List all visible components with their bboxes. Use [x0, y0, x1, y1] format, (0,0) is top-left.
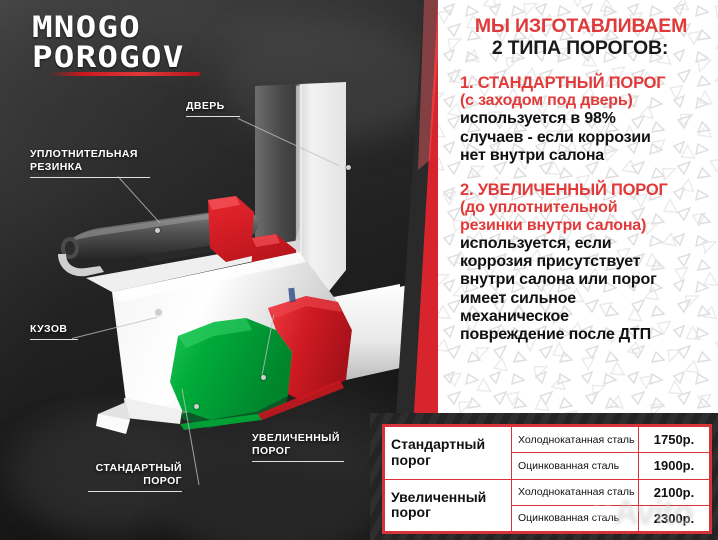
price-value: 1750р. [639, 427, 710, 453]
price-table: Стандартный порог Холоднокатанная сталь … [382, 424, 712, 534]
info-block-enlarged-line2: коррозия присутствует [460, 253, 706, 271]
info-block-standard-subtitle: (с заходом под дверь) [460, 92, 706, 110]
callout-enlarged-sill-line2: ПОРОГ [252, 445, 291, 457]
price-material: Оцинкованная сталь [512, 505, 639, 531]
callout-door: ДВЕРЬ [186, 100, 240, 117]
price-value: 2300р. [639, 505, 710, 531]
callout-enlarged-sill: УВЕЛИЧЕННЫЙ ПОРОГ [252, 432, 344, 462]
callout-body-label: КУЗОВ [30, 323, 67, 335]
info-block-enlarged-line6: повреждение после ДТП [460, 326, 706, 344]
info-block-enlarged-line4: имеет сильное [460, 290, 706, 308]
price-group-standard-label: Стандартный порог [385, 427, 512, 480]
callout-standard-sill: СТАНДАРТНЫЙ ПОРОГ [88, 462, 182, 492]
leader-dot-door [346, 165, 351, 170]
info-block-standard-title: 1. СТАНДАРТНЫЙ ПОРОГ [460, 74, 706, 92]
panel-headline-black: 2 ТИПА ПОРОГОВ: [460, 38, 706, 59]
callout-door-label: ДВЕРЬ [186, 100, 225, 112]
info-block-enlarged-title: 2. УВЕЛИЧЕННЫЙ ПОРОГ [460, 181, 706, 199]
info-block-enlarged-line3: внутри салона или порог [460, 271, 706, 289]
callout-sealing-rubber-line2: РЕЗИНКА [30, 161, 83, 173]
watermark-dot-right [601, 505, 614, 518]
leader-dot-standard-sill [194, 404, 199, 409]
brand-logo-line1: MNOGO [32, 14, 256, 42]
info-block-standard-line2: случаев - если коррозии [460, 129, 706, 147]
table-row: Увеличенный порог Холоднокатанная сталь … [385, 479, 710, 505]
callout-underline [30, 177, 150, 178]
callout-underline [186, 116, 240, 117]
callout-underline [30, 339, 78, 340]
info-block-standard: 1. СТАНДАРТНЫЙ ПОРОГ (с заходом под двер… [460, 74, 706, 165]
info-block-standard-line3: нет внутри салона [460, 147, 706, 165]
table-row: Стандартный порог Холоднокатанная сталь … [385, 427, 710, 453]
price-value: 2100р. [639, 479, 710, 505]
info-block-standard-line1: используется в 98% [460, 110, 706, 128]
leader-dot-sealing-rubber [155, 228, 160, 233]
info-block-enlarged-line5: механическое [460, 308, 706, 326]
info-block-enlarged-line1: используется, если [460, 235, 706, 253]
price-material: Холоднокатанная сталь [512, 427, 639, 453]
info-block-enlarged-subtitle-line2: резинки внутри салона) [460, 217, 706, 235]
brand-logo-streak [47, 72, 201, 76]
price-material: Холоднокатанная сталь [512, 479, 639, 505]
callout-sealing-rubber: УПЛОТНИТЕЛЬНАЯ РЕЗИНКА [30, 148, 150, 178]
info-block-enlarged-subtitle-line1: (до уплотнительной [460, 199, 706, 217]
callout-enlarged-sill-line1: УВЕЛИЧЕННЫЙ [252, 432, 340, 444]
callout-underline [252, 461, 344, 462]
callout-standard-sill-line2: ПОРОГ [143, 475, 182, 487]
callout-sealing-rubber-line1: УПЛОТНИТЕЛЬНАЯ [30, 148, 138, 160]
price-material: Оцинкованная сталь [512, 453, 639, 479]
callout-standard-sill-line1: СТАНДАРТНЫЙ [96, 462, 182, 474]
price-group-enlarged-label: Увеличенный порог [385, 479, 512, 532]
price-value: 1900р. [639, 453, 710, 479]
info-block-enlarged: 2. УВЕЛИЧЕННЫЙ ПОРОГ (до уплотнительной … [460, 181, 706, 344]
brand-logo: MNOGO POROGOV [32, 14, 222, 76]
leader-dot-enlarged-sill [261, 375, 266, 380]
advertisement-image: ДВЕРЬ УПЛОТНИТЕЛЬНАЯ РЕЗИНКА КУЗОВ СТАНД… [0, 0, 718, 540]
panel-headline-red: МЫ ИЗГОТАВЛИВАЕМ [460, 16, 706, 37]
leader-dot-body [156, 310, 161, 315]
info-panel: МЫ ИЗГОТАВЛИВАЕМ 2 ТИПА ПОРОГОВ: 1. СТАН… [438, 0, 718, 413]
brand-logo-line2: POROGOV [32, 44, 256, 72]
callout-underline [88, 491, 182, 492]
